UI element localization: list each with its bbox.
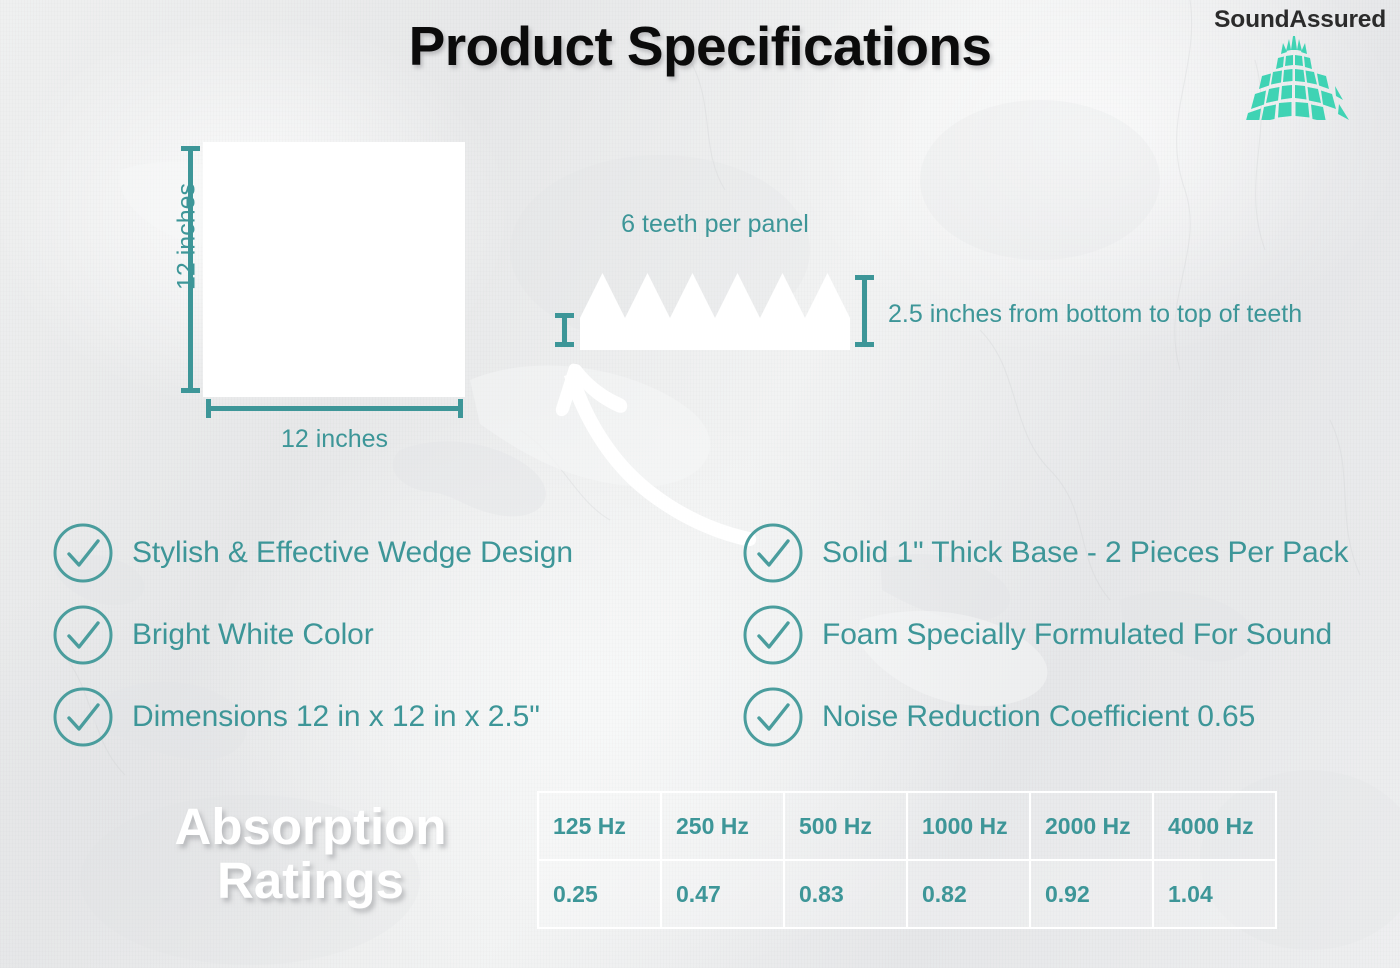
total-height-line <box>862 277 867 347</box>
teeth-height-label: 2.5 inches from bottom to top of teeth <box>888 300 1302 329</box>
table-value-cell: 0.25 <box>538 860 661 928</box>
table-value-cell: 0.82 <box>907 860 1030 928</box>
feature-item: Foam Specially Formulated For Sound <box>742 594 1392 676</box>
check-circle-icon <box>52 686 114 748</box>
feature-list-left: Stylish & Effective Wedge Design Bright … <box>52 512 692 758</box>
absorption-heading-line-2: Ratings <box>118 854 503 908</box>
feature-label: Stylish & Effective Wedge Design <box>132 536 573 570</box>
height-dimension-cap-bottom <box>181 388 200 393</box>
table-value-cell: 0.92 <box>1030 860 1153 928</box>
table-header-cell: 4000 Hz <box>1153 792 1276 860</box>
width-dimension-cap-right <box>458 399 463 418</box>
absorption-heading-line-1: Absorption <box>118 800 503 854</box>
total-height-cap-bottom <box>855 342 874 347</box>
brand-logo[interactable]: SoundAssured <box>1192 2 1392 124</box>
foam-panel-face-diagram <box>203 142 465 397</box>
wedge-profile-diagram <box>580 270 850 350</box>
brand-wordmark: SoundAssured <box>1214 6 1386 34</box>
panel-width-label: 12 inches <box>208 425 461 454</box>
feature-item: Bright White Color <box>52 594 692 676</box>
table-value-cell: 0.47 <box>661 860 784 928</box>
table-header-cell: 500 Hz <box>784 792 907 860</box>
feature-label: Noise Reduction Coefficient 0.65 <box>822 700 1255 734</box>
height-dimension-cap-top <box>181 146 200 151</box>
table-row-frequencies: 125 Hz 250 Hz 500 Hz 1000 Hz 2000 Hz 400… <box>538 792 1276 860</box>
feature-label: Solid 1" Thick Base - 2 Pieces Per Pack <box>822 536 1348 570</box>
table-header-cell: 1000 Hz <box>907 792 1030 860</box>
feature-item: Noise Reduction Coefficient 0.65 <box>742 676 1392 758</box>
feature-item: Stylish & Effective Wedge Design <box>52 512 692 594</box>
teeth-count-label: 6 teeth per panel <box>560 210 870 239</box>
table-row-values: 0.25 0.47 0.83 0.82 0.92 1.04 <box>538 860 1276 928</box>
infographic-page: Product Specifications SoundAssured <box>0 0 1400 968</box>
table-value-cell: 0.83 <box>784 860 907 928</box>
absorption-ratings-heading: Absorption Ratings <box>118 800 503 908</box>
total-height-cap-top <box>855 275 874 280</box>
table-header-cell: 250 Hz <box>661 792 784 860</box>
check-circle-icon <box>52 522 114 584</box>
check-circle-icon <box>742 686 804 748</box>
feature-label: Dimensions 12 in x 12 in x 2.5" <box>132 700 540 734</box>
absorption-ratings-table: 125 Hz 250 Hz 500 Hz 1000 Hz 2000 Hz 400… <box>537 791 1277 929</box>
feature-label: Bright White Color <box>132 618 374 652</box>
table-header-cell: 2000 Hz <box>1030 792 1153 860</box>
check-circle-icon <box>742 522 804 584</box>
feature-list-right: Solid 1" Thick Base - 2 Pieces Per Pack … <box>742 512 1392 758</box>
pyramid-icon <box>1234 34 1354 120</box>
page-title: Product Specifications <box>0 14 1400 78</box>
base-thickness-cap-bottom <box>555 342 574 347</box>
feature-item: Dimensions 12 in x 12 in x 2.5" <box>52 676 692 758</box>
table-header-cell: 125 Hz <box>538 792 661 860</box>
width-dimension-line <box>208 406 461 411</box>
check-circle-icon <box>52 604 114 666</box>
check-circle-icon <box>742 604 804 666</box>
feature-label: Foam Specially Formulated For Sound <box>822 618 1332 652</box>
panel-height-label: 12 inches <box>173 172 202 302</box>
base-thickness-cap-top <box>555 313 574 318</box>
width-dimension-cap-left <box>206 399 211 418</box>
table-value-cell: 1.04 <box>1153 860 1276 928</box>
feature-item: Solid 1" Thick Base - 2 Pieces Per Pack <box>742 512 1392 594</box>
